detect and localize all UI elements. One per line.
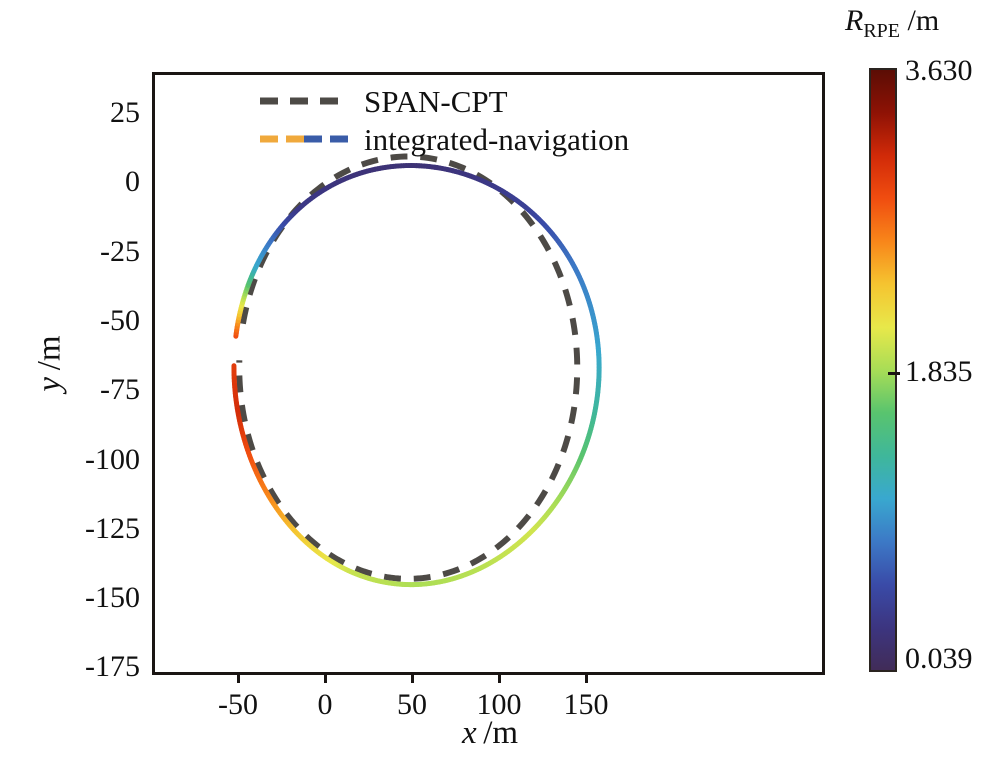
colorbar-max-label: 3.630 <box>905 56 973 86</box>
legend-item-integrated-navigation: integrated-navigation <box>258 120 718 158</box>
y-axis-label-unit: /m <box>32 335 68 370</box>
x-axis-label-var: x <box>462 715 477 751</box>
y-tick-label-neg100: -100 <box>30 445 140 475</box>
legend-label-integrated-navigation: integrated-navigation <box>364 124 629 155</box>
y-tick-label-neg150: -150 <box>30 583 140 613</box>
colorbar-min-label: 0.039 <box>905 644 973 674</box>
y-tick-label-neg175: -175 <box>30 652 140 682</box>
colorbar-mid-label: 1.835 <box>905 357 973 387</box>
y-tick-label-neg25: -25 <box>30 237 140 267</box>
colorbar <box>869 68 897 672</box>
colorbar-title-var: R <box>845 4 863 37</box>
integrated-navigation-trajectory <box>234 166 599 585</box>
colorbar-gradient <box>871 70 895 670</box>
plot-area <box>152 72 825 675</box>
legend-label-span-cpt: SPAN-CPT <box>364 86 508 117</box>
x-axis-label: x /m <box>380 715 600 752</box>
legend-swatch-span-cpt <box>258 91 350 111</box>
y-axis-label: y /m <box>32 284 69 444</box>
figure-root: RRPE /m <box>0 0 1000 761</box>
colorbar-mid-tick <box>888 372 900 375</box>
colorbar-title: RRPE /m <box>845 4 1000 43</box>
y-axis-label-var: y <box>32 377 68 392</box>
colorbar-title-unit: /m <box>908 4 940 37</box>
legend: SPAN-CPT integrated-navigation <box>258 82 718 158</box>
trajectory-plot <box>155 75 822 672</box>
legend-item-span-cpt: SPAN-CPT <box>258 82 718 120</box>
legend-swatch-integrated-navigation <box>258 129 350 149</box>
y-tick-label-neg125: -125 <box>30 514 140 544</box>
x-axis-label-unit: /m <box>483 715 518 751</box>
colorbar-title-subscript: RPE <box>863 20 900 42</box>
y-tick-label-25: 25 <box>30 98 140 128</box>
y-tick-label-0: 0 <box>30 167 140 197</box>
